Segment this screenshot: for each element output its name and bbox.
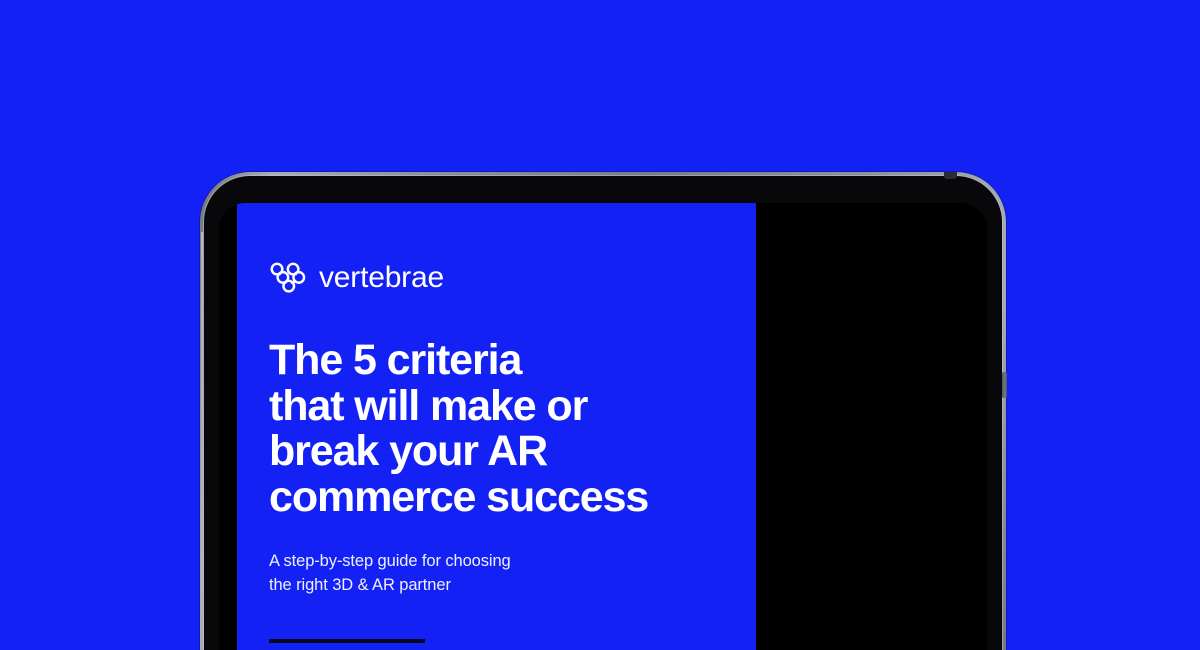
headline-line-4: commerce success xyxy=(269,475,736,521)
divider-rule xyxy=(269,639,425,643)
headline-line-2: that will make or xyxy=(269,384,736,430)
brand-wordmark: vertebrae xyxy=(319,263,444,293)
tablet-left-edge-highlight xyxy=(201,232,203,650)
headline-line-3: break your AR xyxy=(269,429,736,475)
slide-subtitle: A step-by-step guide for choosing the ri… xyxy=(269,550,736,597)
subtitle-line-2: the right 3D & AR partner xyxy=(269,574,736,597)
front-camera-icon xyxy=(944,172,957,179)
tablet-screen[interactable]: vertebrae The 5 criteria that will make … xyxy=(219,203,987,650)
ebook-cover-slide[interactable]: vertebrae The 5 criteria that will make … xyxy=(237,203,756,650)
slide-content: vertebrae The 5 criteria that will make … xyxy=(269,258,736,643)
brand-logo[interactable]: vertebrae xyxy=(269,258,736,298)
subtitle-line-1: A step-by-step guide for choosing xyxy=(269,550,736,573)
slide-headline: The 5 criteria that will make or break y… xyxy=(269,338,736,520)
vertebrae-logo-mark xyxy=(269,261,307,295)
screenshot-canvas: vertebrae The 5 criteria that will make … xyxy=(0,0,1200,650)
tablet-device: vertebrae The 5 criteria that will make … xyxy=(200,172,1006,650)
headline-line-1: The 5 criteria xyxy=(269,338,736,384)
power-button[interactable] xyxy=(1002,372,1007,398)
